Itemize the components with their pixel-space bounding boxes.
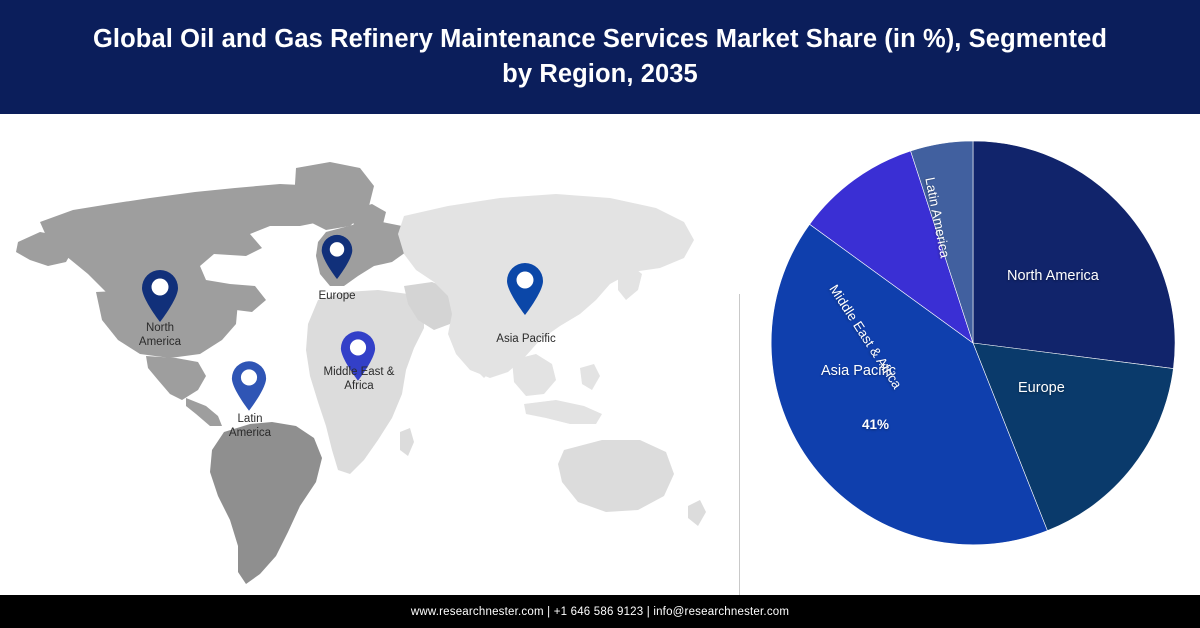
pie-chart-svg bbox=[739, 114, 1200, 595]
map-pin-latin-america[interactable] bbox=[230, 360, 268, 412]
land-mexico bbox=[146, 356, 206, 400]
world-map-panel: North America Europe Latin America Middl… bbox=[0, 114, 735, 595]
land-philippines bbox=[580, 364, 600, 390]
land-southeast-asia bbox=[512, 354, 556, 396]
infographic-page: Global Oil and Gas Refinery Maintenance … bbox=[0, 0, 1200, 628]
pie-chart-panel: North America Europe Asia Pacific 41% Mi… bbox=[739, 114, 1200, 595]
map-label-asia-pacific: Asia Pacific bbox=[472, 332, 580, 346]
map-pin-europe[interactable] bbox=[320, 234, 354, 280]
land-south-america bbox=[210, 422, 322, 584]
map-label-europe: Europe bbox=[299, 289, 375, 303]
land-asia bbox=[398, 194, 694, 378]
pie-slice-north-america[interactable] bbox=[973, 141, 1175, 369]
footer-bar: www.researchnester.com | +1 646 586 9123… bbox=[0, 595, 1200, 628]
page-title: Global Oil and Gas Refinery Maintenance … bbox=[90, 22, 1110, 92]
pie-slices bbox=[771, 141, 1175, 545]
land-indonesia bbox=[524, 400, 602, 424]
map-pin-asia-pacific[interactable] bbox=[505, 262, 545, 316]
pie-label-north-america: North America bbox=[1007, 268, 1099, 284]
land-australia bbox=[558, 440, 674, 512]
pie-label-europe: Europe bbox=[1018, 380, 1065, 396]
footer-contact-text: www.researchnester.com | +1 646 586 9123… bbox=[411, 606, 789, 618]
map-label-north-america: North America bbox=[118, 321, 202, 349]
land-new-zealand bbox=[688, 500, 706, 526]
land-madagascar bbox=[400, 428, 414, 456]
pie-value-asia-pacific: 41% bbox=[862, 417, 889, 432]
map-label-middle-east-africa: Middle East & Africa bbox=[295, 365, 423, 393]
map-pin-north-america[interactable] bbox=[140, 269, 180, 323]
content-area: North America Europe Latin America Middl… bbox=[0, 114, 1200, 595]
map-label-latin-america: Latin America bbox=[208, 412, 292, 440]
header-banner: Global Oil and Gas Refinery Maintenance … bbox=[0, 0, 1200, 114]
